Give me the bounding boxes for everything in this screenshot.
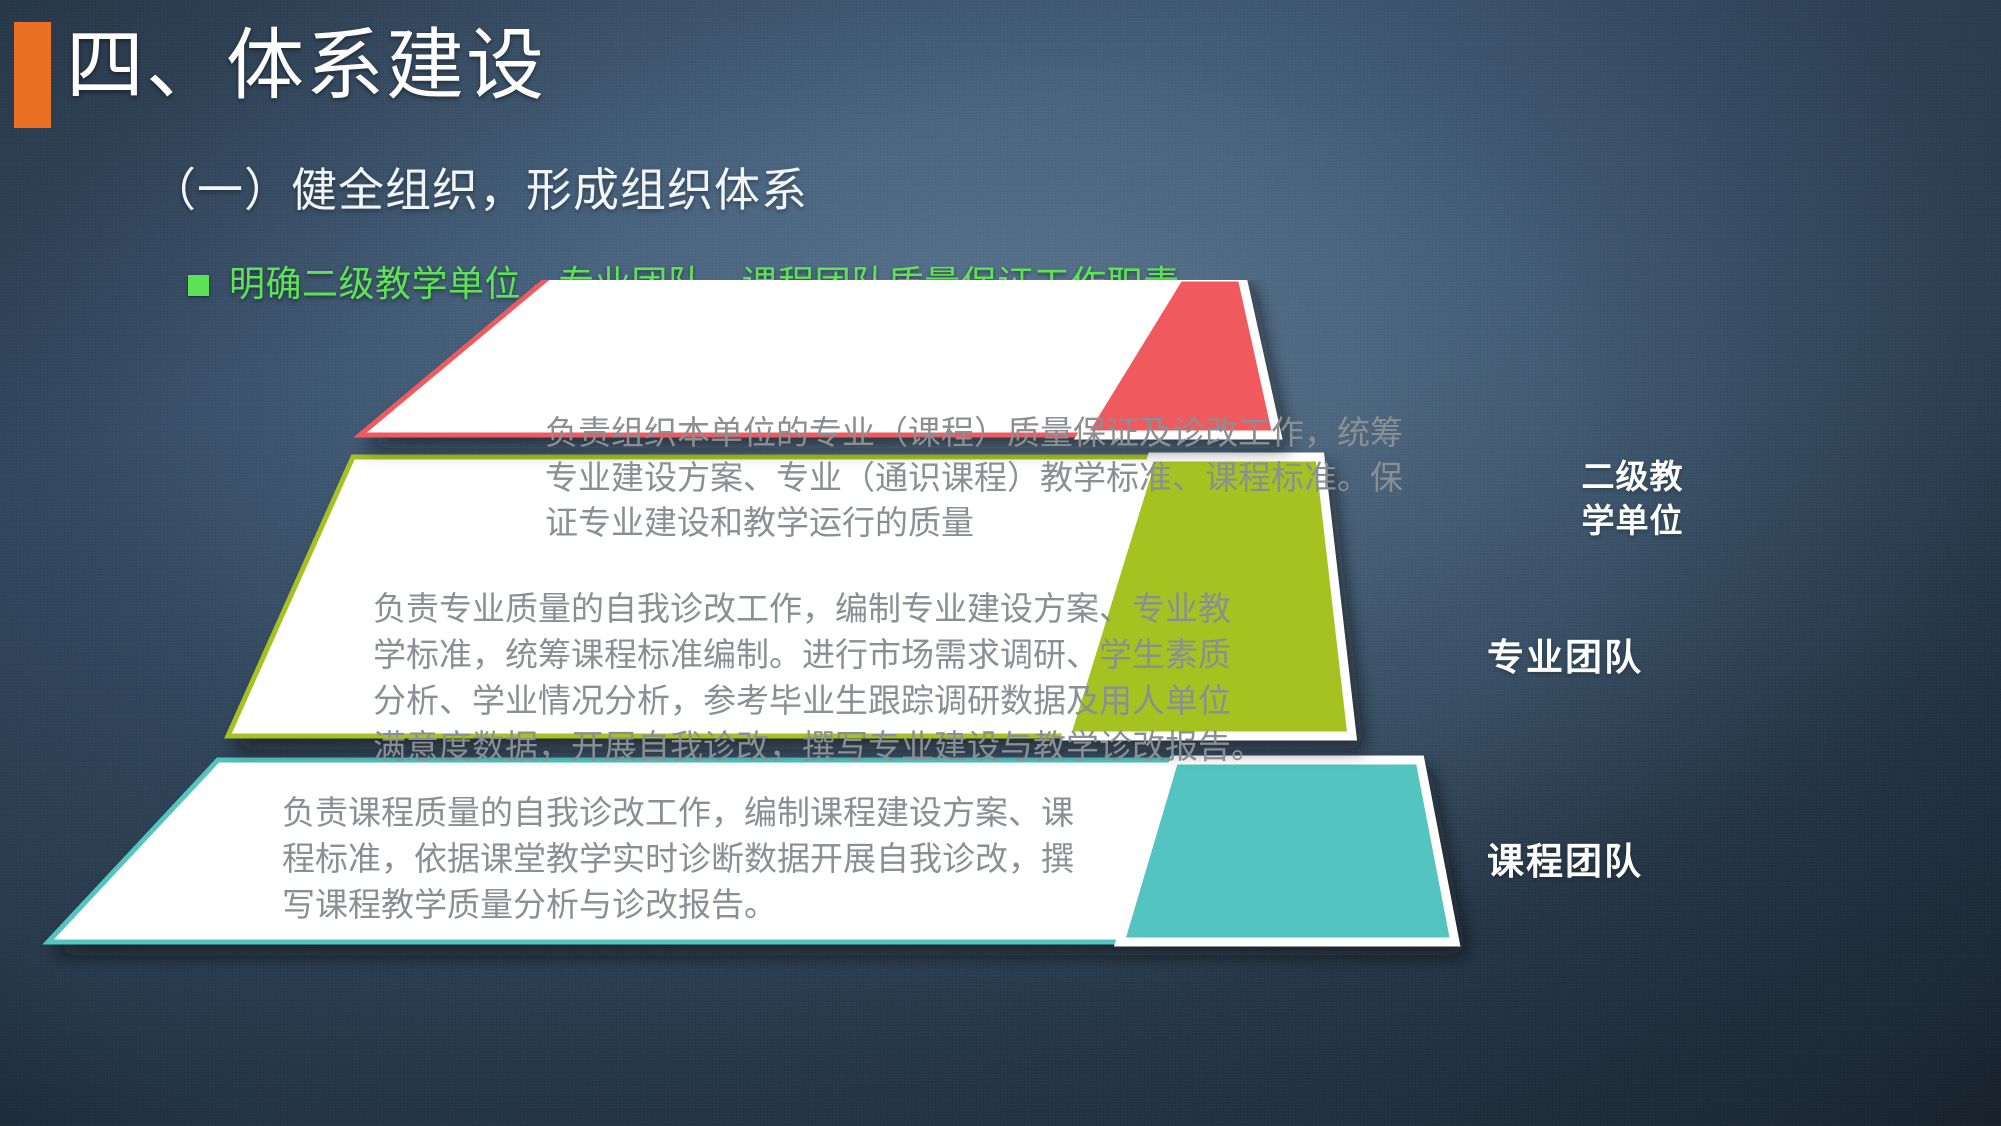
tier-1-description: 负责组织本单位的专业（课程）质量保证及诊改工作，统筹 专业建设方案、专业（通识课… (545, 410, 1500, 545)
section-subtitle: （一）健全组织，形成组织体系 (150, 160, 808, 220)
tier-3-label: 课程团队 (1440, 838, 1690, 886)
slide-canvas: 四、体系建设 （一）健全组织，形成组织体系 明确二级教学单位 - 专业团队 - … (0, 0, 2001, 1126)
title-accent-bar (14, 22, 51, 128)
tier-3-description: 负责课程质量的自我诊改工作，编制课程建设方案、课 程标准，依据课堂教学实时诊断数… (282, 790, 1192, 928)
tier-2-description: 负责专业质量的自我诊改工作，编制专业建设方案、专业教 学标准，统筹课程标准编制。… (373, 586, 1373, 770)
page-title: 四、体系建设 (66, 18, 546, 114)
tier-2-label: 专业团队 (1440, 634, 1690, 682)
tier-1-label: 二级教 学单位 (1545, 455, 1720, 543)
